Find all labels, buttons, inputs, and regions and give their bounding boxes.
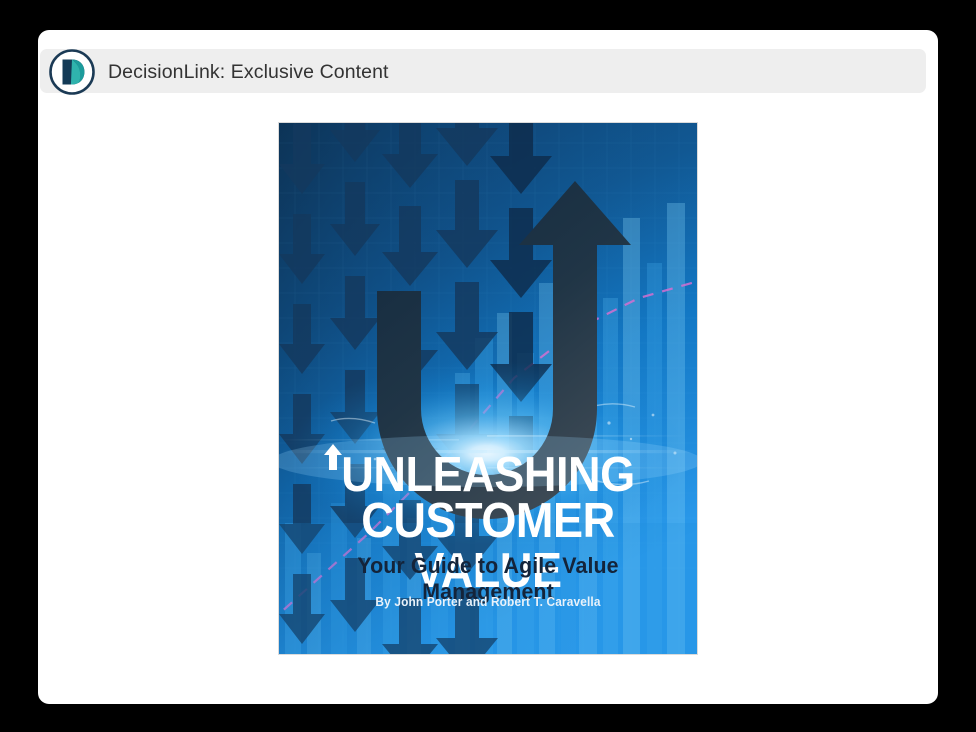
- decisionlink-logo-icon: [48, 48, 96, 96]
- book-cover-artwork: [279, 123, 697, 654]
- header-title: DecisionLink: Exclusive Content: [108, 61, 389, 83]
- book-cover-image: UNLEASHING CUSTOMER VALUE Your Guide to …: [279, 123, 697, 654]
- content-card: DecisionLink: Exclusive Content: [38, 30, 938, 704]
- logo-svg: [48, 48, 96, 96]
- book-cover-canvas: UNLEASHING CUSTOMER VALUE Your Guide to …: [279, 123, 697, 654]
- screen-root: DecisionLink: Exclusive Content: [0, 0, 976, 732]
